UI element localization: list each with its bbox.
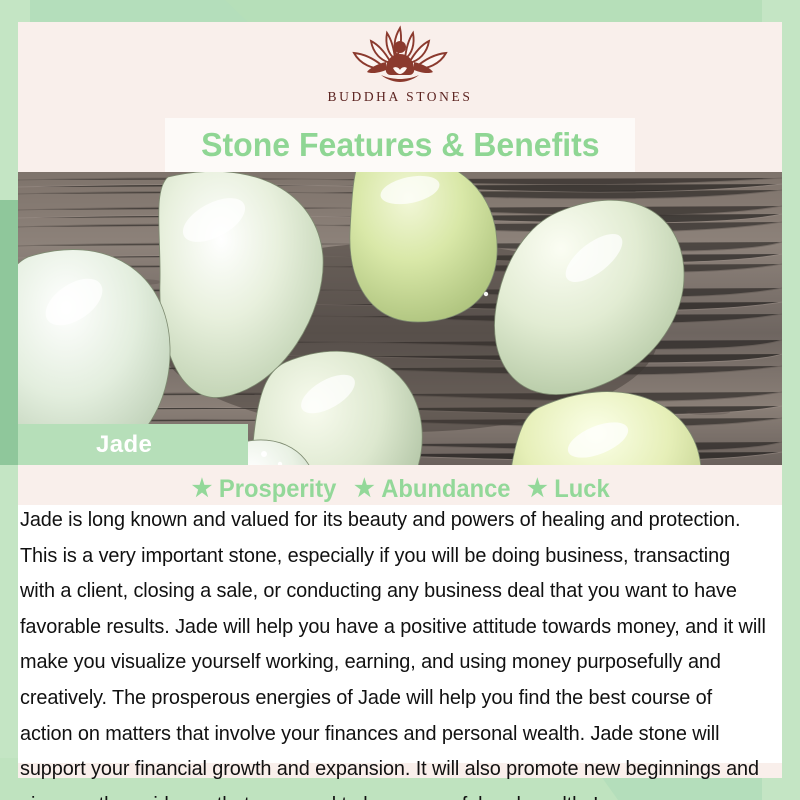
star-icon: ★ <box>354 477 374 501</box>
lotus-meditating-figure-icon <box>325 22 475 88</box>
brand-logo: BUDDHA STONES <box>0 22 800 118</box>
benefit-item-abundance: ★ Abundance <box>354 475 510 504</box>
benefit-label: Luck <box>554 475 609 504</box>
benefit-item-luck: ★ Luck <box>527 475 610 504</box>
description-text: Jade is long known and valued for its be… <box>20 503 767 800</box>
stone-name-chip: Jade <box>18 424 248 465</box>
infographic-card: BUDDHA STONES Stone Features & Benefits <box>0 0 800 800</box>
star-icon: ★ <box>527 477 547 501</box>
page-title: Stone Features & Benefits <box>201 126 599 164</box>
benefit-label: Prosperity <box>219 475 336 504</box>
brand-wordmark: BUDDHA STONES <box>328 89 473 105</box>
page-title-banner: Stone Features & Benefits <box>165 118 635 172</box>
stone-photo <box>18 172 782 465</box>
benefit-item-prosperity: ★ Prosperity <box>192 475 337 504</box>
star-icon: ★ <box>192 477 212 501</box>
benefit-label: Abundance <box>382 475 511 504</box>
stone-name-label: Jade <box>96 431 152 459</box>
stone-photo-illustration <box>18 172 782 465</box>
